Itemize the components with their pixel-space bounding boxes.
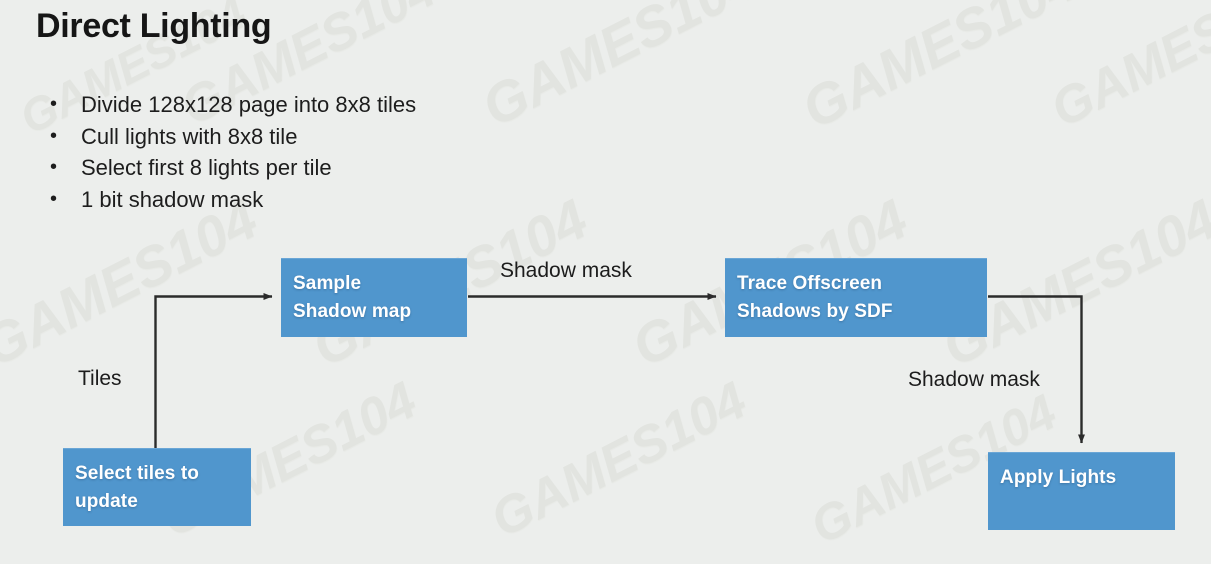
flow-node-trace-offscreen-shadows-by-sdf[interactable]: Trace Offscreen Shadows by SDF <box>725 258 987 337</box>
flow-node-line-1: Trace Offscreen <box>737 270 987 298</box>
edge-label-tiles: Tiles <box>78 367 122 391</box>
flow-node-line-2: Shadow map <box>293 298 467 326</box>
slide-content: Direct Lighting • Divide 128x128 page in… <box>0 0 1211 564</box>
flow-node-line-1: Select tiles to <box>75 460 251 488</box>
flow-node-select-tiles-to-update[interactable]: Select tiles to update <box>63 448 251 526</box>
flow-node-apply-lights[interactable]: Apply Lights <box>988 452 1175 530</box>
slide-canvas: GAMES104GAMES104GAMES104GAMES104GAMES104… <box>0 0 1211 564</box>
flow-node-line-2: update <box>75 488 251 516</box>
edge-select-tiles-to-sample-shadow <box>156 297 273 450</box>
edge-label-shadow-mask-right: Shadow mask <box>908 368 1040 392</box>
flow-node-line-1: Apply Lights <box>1000 464 1175 492</box>
flow-diagram: Select tiles to update Sample Shadow map… <box>0 0 1211 564</box>
edge-label-shadow-mask-top: Shadow mask <box>500 259 632 283</box>
flow-node-sample-shadow-map[interactable]: Sample Shadow map <box>281 258 467 337</box>
flow-node-line-2: Shadows by SDF <box>737 298 987 326</box>
flow-node-line-1: Sample <box>293 270 467 298</box>
